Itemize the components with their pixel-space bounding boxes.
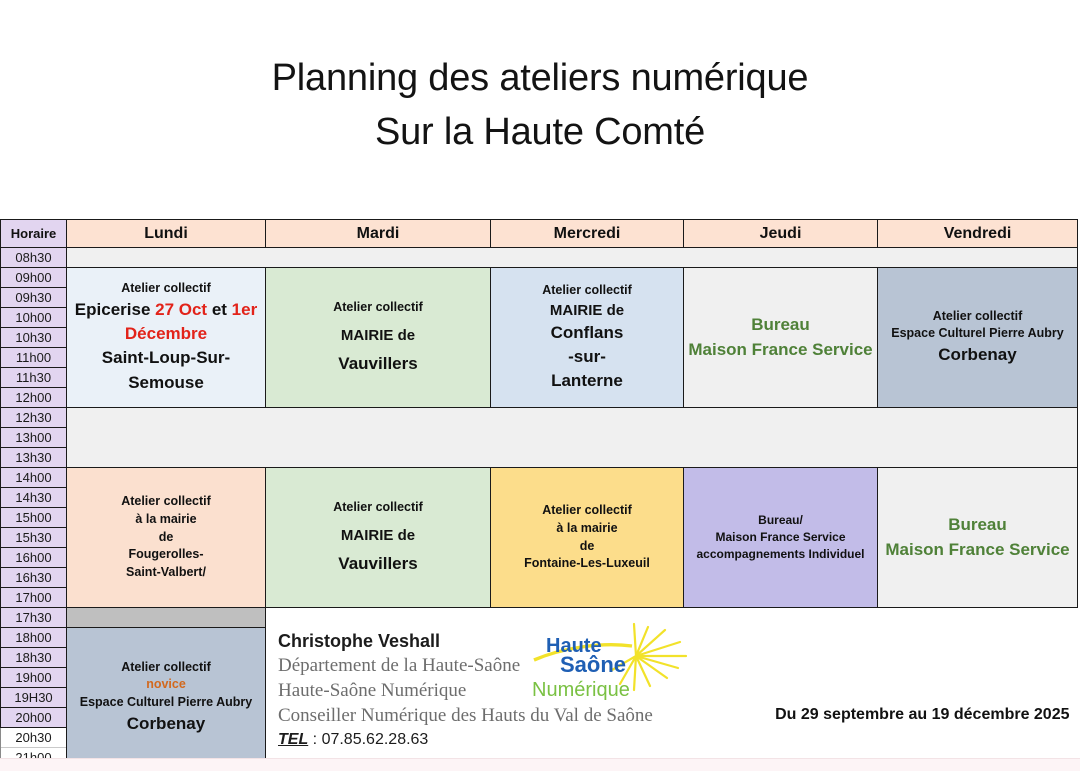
activity-vendredi-afternoon[interactable]: Bureau Maison France Service (878, 468, 1078, 608)
vendredi-morning-line3: Corbenay (878, 343, 1077, 367)
table-row: 14h00 Atelier collectif à la mairie de F… (1, 468, 1078, 488)
lundi-morning-line4: Saint-Loup-Sur-Semouse (67, 346, 265, 394)
empty-slot-1730-lundi (67, 608, 266, 628)
time-label-0930: 09h30 (1, 288, 67, 308)
title-line-2: Sur la Haute Comté (0, 106, 1080, 160)
column-header-horaire: Horaire (1, 220, 67, 248)
signature-block: Christophe Veshall Département de la Hau… (266, 624, 1078, 752)
lundi-evening-line1: Atelier collectif (67, 659, 265, 677)
mercredi-morning-line5: Lanterne (491, 369, 683, 393)
page-title: Planning des ateliers numérique Sur la H… (0, 0, 1080, 160)
vendredi-afternoon-line2: Maison France Service (878, 538, 1077, 562)
activity-vendredi-morning[interactable]: Atelier collectif Espace Culturel Pierre… (878, 268, 1078, 408)
time-label-1400: 14h00 (1, 468, 67, 488)
lundi-afternoon-line2: à la mairie (67, 511, 265, 529)
column-header-mercredi: Mercredi (491, 220, 684, 248)
signature-telephone: TEL : 07.85.62.28.63 (278, 731, 1078, 749)
time-label-1630: 16h30 (1, 568, 67, 588)
time-label-0830: 08h30 (1, 248, 67, 268)
logo-svg: Haute Saône Numérique (528, 620, 688, 712)
activity-lundi-afternoon[interactable]: Atelier collectif à la mairie de Fougero… (67, 468, 266, 608)
mercredi-morning-line3: Conflans (491, 321, 683, 345)
vendredi-morning-line1: Atelier collectif (878, 308, 1077, 326)
lundi-morning-line2-a: Epicerise (75, 300, 155, 319)
time-label-1430: 14h30 (1, 488, 67, 508)
title-line-1: Planning des ateliers numérique (0, 52, 1080, 106)
time-label-1330: 13h30 (1, 448, 67, 468)
activity-jeudi-afternoon[interactable]: Bureau/ Maison France Service accompagne… (684, 468, 878, 608)
time-label-1300: 13h00 (1, 428, 67, 448)
time-label-2000: 20h00 (1, 708, 67, 728)
time-label-1100: 11h00 (1, 348, 67, 368)
lundi-morning-line2: Epicerise 27 Oct et 1er (67, 298, 265, 322)
time-label-2030: 20h30 (1, 728, 67, 748)
table-row: 12h30 (1, 408, 1078, 428)
vendredi-afternoon-line1: Bureau (878, 513, 1077, 537)
mardi-afternoon-line3: Vauvillers (266, 552, 490, 576)
time-label-1830: 18h30 (1, 648, 67, 668)
lundi-evening-line3: Espace Culturel Pierre Aubry (67, 694, 265, 712)
mercredi-afternoon-line3: de (491, 538, 683, 556)
activity-mercredi-morning[interactable]: Atelier collectif MAIRIE de Conflans -su… (491, 268, 684, 408)
lundi-morning-line1: Atelier collectif (67, 280, 265, 298)
table-row: 08h30 (1, 248, 1078, 268)
column-header-lundi: Lundi (67, 220, 266, 248)
tel-label: TEL (278, 731, 308, 748)
time-label-1500: 15h00 (1, 508, 67, 528)
lundi-evening-line2: novice (67, 676, 265, 694)
tel-separator: : (308, 731, 321, 748)
time-label-1200: 12h00 (1, 388, 67, 408)
time-label-1000: 10h00 (1, 308, 67, 328)
table-header-row: Horaire Lundi Mardi Mercredi Jeudi Vendr… (1, 220, 1078, 248)
lundi-morning-line2-red1: 27 Oct (155, 300, 207, 319)
time-label-1600: 16h00 (1, 548, 67, 568)
mardi-morning-line1: Atelier collectif (266, 299, 490, 317)
time-label-1700: 17h00 (1, 588, 67, 608)
time-label-1030: 10h30 (1, 328, 67, 348)
activity-lundi-evening[interactable]: Atelier collectif novice Espace Culturel… (67, 628, 266, 768)
mercredi-afternoon-line2: à la mairie (491, 520, 683, 538)
lundi-afternoon-line4: Fougerolles- (67, 546, 265, 564)
lundi-afternoon-line3: de (67, 529, 265, 547)
activity-jeudi-morning[interactable]: Bureau Maison France Service (684, 268, 878, 408)
footer-area: Christophe Veshall Département de la Hau… (266, 608, 1078, 768)
time-label-1800: 18h00 (1, 628, 67, 648)
date-range-label: Du 29 septembre au 19 décembre 2025 (775, 706, 1069, 724)
lundi-afternoon-line1: Atelier collectif (67, 493, 265, 511)
lundi-evening-line4: Corbenay (67, 712, 265, 736)
time-label-1930: 19H30 (1, 688, 67, 708)
activity-mercredi-afternoon[interactable]: Atelier collectif à la mairie de Fontain… (491, 468, 684, 608)
column-header-vendredi: Vendredi (878, 220, 1078, 248)
mercredi-morning-line4: -sur- (491, 345, 683, 369)
time-label-1130: 11h30 (1, 368, 67, 388)
jeudi-morning-line2: Maison France Service (684, 338, 877, 362)
time-label-1730: 17h30 (1, 608, 67, 628)
time-label-0900: 09h00 (1, 268, 67, 288)
table-row: 09h00 Atelier collectif Epicerise 27 Oct… (1, 268, 1078, 288)
jeudi-afternoon-line3: accompagnements Individuel (684, 546, 877, 563)
mardi-afternoon-line2: MAIRIE de (266, 525, 490, 546)
lundi-morning-line2-red2: 1er (232, 300, 258, 319)
column-header-mardi: Mardi (266, 220, 491, 248)
jeudi-morning-line1: Bureau (684, 313, 877, 337)
haute-saone-numerique-logo: Haute Saône Numérique (528, 620, 688, 712)
bottom-accent-strip (0, 758, 1080, 771)
lundi-morning-line2-b: et (207, 300, 232, 319)
empty-slot-0830 (67, 248, 1078, 268)
activity-mardi-afternoon[interactable]: Atelier collectif MAIRIE de Vauvillers (266, 468, 491, 608)
lundi-morning-line3: Décembre (67, 322, 265, 346)
column-header-jeudi: Jeudi (684, 220, 878, 248)
activity-lundi-morning[interactable]: Atelier collectif Epicerise 27 Oct et 1e… (67, 268, 266, 408)
time-label-1530: 15h30 (1, 528, 67, 548)
mercredi-afternoon-line1: Atelier collectif (491, 502, 683, 520)
mercredi-morning-line1: Atelier collectif (491, 282, 683, 300)
tel-value: 07.85.62.28.63 (322, 731, 429, 748)
planning-table: Horaire Lundi Mardi Mercredi Jeudi Vendr… (0, 219, 1078, 768)
logo-word-numerique: Numérique (532, 679, 630, 701)
activity-mardi-morning[interactable]: Atelier collectif MAIRIE de Vauvillers (266, 268, 491, 408)
mercredi-afternoon-line4: Fontaine-Les-Luxeuil (491, 555, 683, 573)
mardi-morning-line2: MAIRIE de (266, 325, 490, 346)
table-row: 17h30 Christophe Veshall Département de … (1, 608, 1078, 628)
jeudi-afternoon-line2: Maison France Service (684, 529, 877, 546)
mardi-afternoon-line1: Atelier collectif (266, 499, 490, 517)
time-label-1900: 19h00 (1, 668, 67, 688)
time-label-1230: 12h30 (1, 408, 67, 428)
vendredi-morning-line2: Espace Culturel Pierre Aubry (878, 325, 1077, 343)
empty-slot-midday (67, 408, 1078, 468)
mercredi-morning-line2: MAIRIE de (491, 300, 683, 321)
lundi-afternoon-line5: Saint-Valbert/ (67, 564, 265, 582)
jeudi-afternoon-line1: Bureau/ (684, 512, 877, 529)
mardi-morning-line3: Vauvillers (266, 352, 490, 376)
logo-word-saone: Saône (560, 652, 626, 677)
